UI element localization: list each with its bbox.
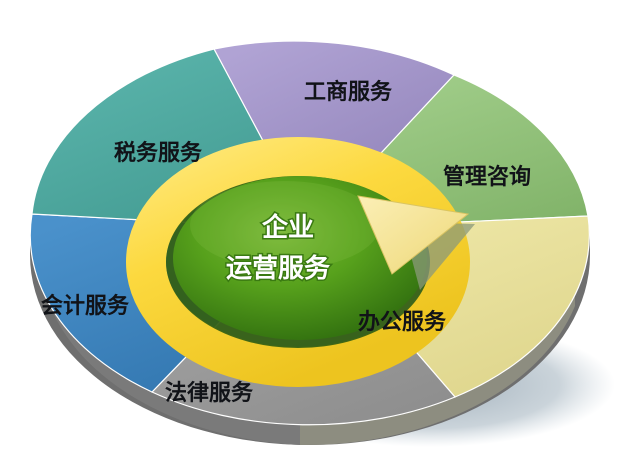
segment-label-office: 办公服务 <box>358 309 447 334</box>
diagram-canvas: 工商服务 管理咨询 办公服务 法律服务 会计服务 税务服务 企业 运营服务 <box>0 0 620 458</box>
center-label-line2: 运营服务 <box>226 253 330 283</box>
segment-label-legal: 法律服务 <box>165 380 254 405</box>
segment-label-accounting: 会计服务 <box>41 293 130 318</box>
segment-label-consulting: 管理咨询 <box>443 164 531 189</box>
center-label-line1: 企业 <box>262 212 314 242</box>
segment-label-tax: 税务服务 <box>114 140 203 165</box>
segment-label-business: 工商服务 <box>304 79 393 104</box>
enterprise-service-donut-diagram: 工商服务 管理咨询 办公服务 法律服务 会计服务 税务服务 企业 运营服务 <box>0 0 620 458</box>
